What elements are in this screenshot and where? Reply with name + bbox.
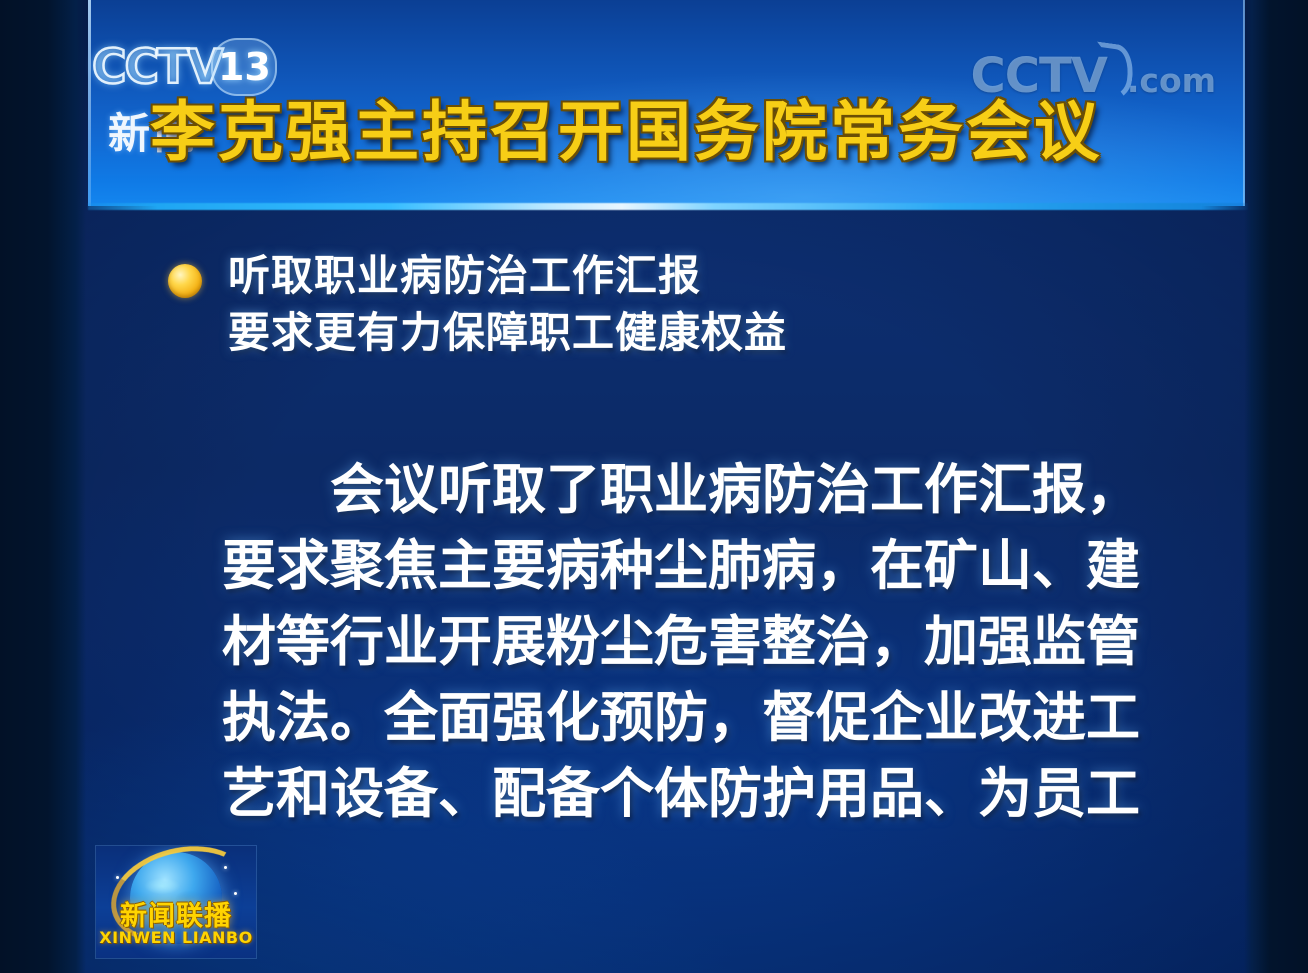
channel-number-pill: 13: [211, 38, 277, 96]
body-paragraph: 会议听取了职业病防治工作汇报， 要求聚焦主要病种尘肺病，在矿山、建 材等行业开展…: [222, 452, 1162, 832]
body-line: 材等行业开展粉尘危害整治，加强监管: [222, 604, 1162, 680]
broadcast-frame: CCTV 13 新闻 CCTV.com 李克强主持召开国务院常务会议 听取职业病…: [0, 0, 1308, 973]
banner-divider-line: [88, 203, 1248, 210]
subhead-lines: 听取职业病防治工作汇报 要求更有力保障职工健康权益: [228, 252, 787, 356]
cctv-dotcom-suffix: .com: [1127, 61, 1216, 100]
headline-text: 李克强主持召开国务院常务会议: [150, 100, 1220, 165]
body-line: 艺和设备、配备个体防护用品、为员工: [222, 756, 1162, 832]
subhead-line: 听取职业病防治工作汇报: [228, 252, 787, 299]
cctv-wordmark-icon: CCTV: [92, 44, 221, 91]
program-badge: 新闻联播 XINWEN LIANBO: [96, 846, 256, 958]
body-line: 要求聚焦主要病种尘肺病，在矿山、建: [222, 528, 1162, 604]
subhead-block: 听取职业病防治工作汇报 要求更有力保障职工健康权益: [168, 252, 787, 356]
body-line: 执法。全面强化预防，督促企业改进工: [222, 680, 1162, 756]
body-line: 会议听取了职业病防治工作汇报，: [222, 452, 1162, 528]
channel-number-label: 13: [218, 45, 271, 89]
subhead-line: 要求更有力保障职工健康权益: [228, 309, 787, 356]
right-letterbox-band: [1244, 0, 1308, 973]
banner-left-edge: [88, 0, 91, 206]
program-name-en: XINWEN LIANBO: [96, 928, 256, 947]
gold-dot-icon: [168, 264, 202, 298]
left-letterbox-band: [0, 0, 86, 973]
sparkle-icon: [116, 876, 119, 879]
sparkle-icon: [224, 866, 227, 869]
cctv-channel-logo: CCTV 13: [92, 38, 277, 96]
